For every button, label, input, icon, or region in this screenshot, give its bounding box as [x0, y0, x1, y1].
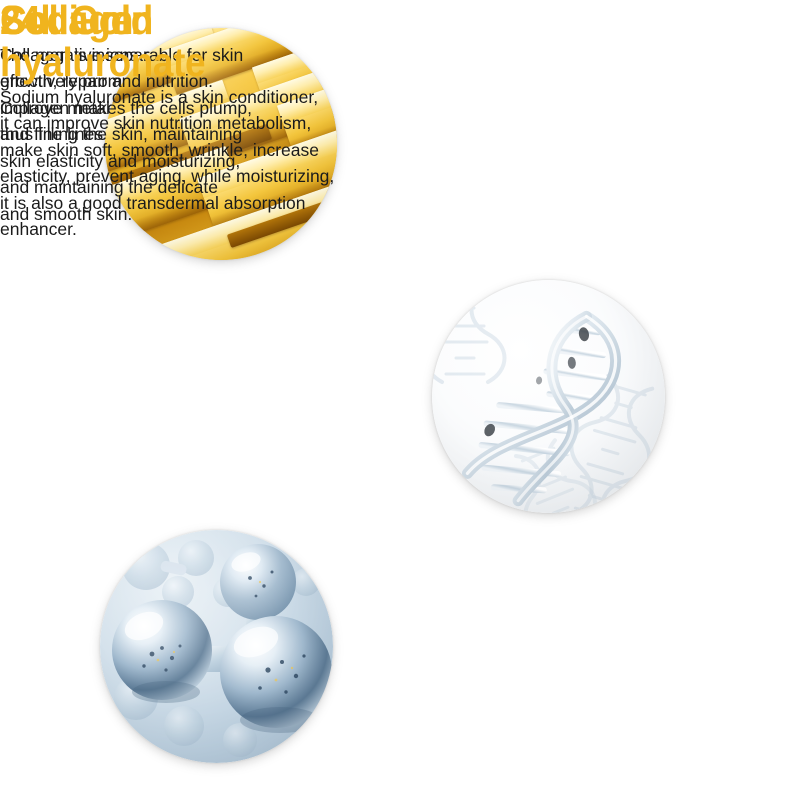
- sodium-hyaluronate-body-text: Sodium hyaluronate is a skin conditioner…: [0, 84, 400, 243]
- water-molecule-artwork: [100, 530, 333, 763]
- dna-helix-artwork: [432, 280, 665, 513]
- section-sodium-hyaluronate: Water molecule spheres Sodium hyaluronat…: [0, 0, 400, 243]
- dna-helix-svg: [432, 280, 665, 513]
- water-molecule-photo: Water molecule spheres: [100, 530, 333, 763]
- dna-helix-photo: DNA double helix strands: [432, 280, 665, 513]
- sodium-hyaluronate-heading: Sodium hyaluronate: [0, 0, 360, 84]
- water-molecule-svg: [100, 530, 333, 763]
- infographic-page: Stacked 24k gold bars 24k Gold The negat…: [0, 0, 800, 800]
